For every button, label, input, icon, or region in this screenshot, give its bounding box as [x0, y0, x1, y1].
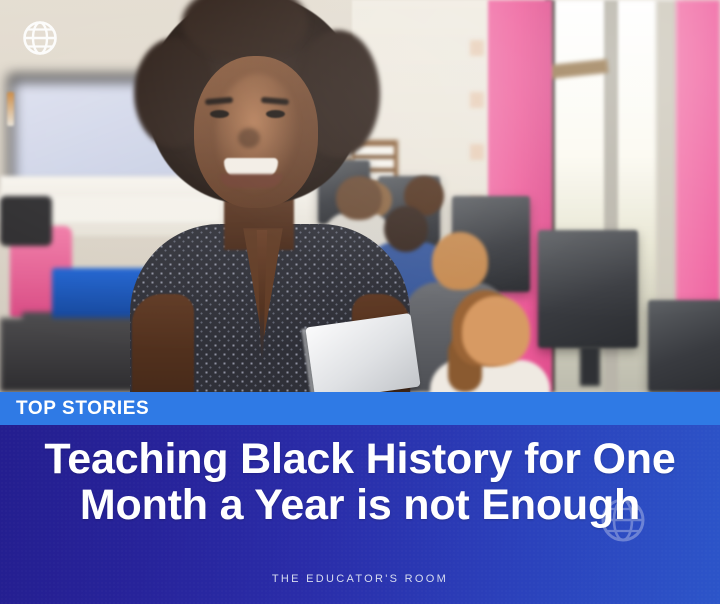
- teacher-eye: [210, 110, 229, 118]
- page-title: Teaching Black History for One Month a Y…: [0, 425, 720, 528]
- computer-monitor: [538, 230, 638, 348]
- article-photo: [0, 0, 720, 392]
- featured-article-card[interactable]: TOP STORIES Teaching Black History for O…: [0, 0, 720, 604]
- teacher-eye: [266, 110, 285, 118]
- student-head: [432, 232, 488, 290]
- teacher-arm-left: [132, 294, 194, 392]
- teacher-lower-lip: [220, 174, 282, 188]
- teacher-nose: [238, 128, 260, 148]
- site-credit: THE EDUCATOR'S ROOM: [0, 573, 720, 585]
- teacher-figure: [120, 0, 420, 392]
- computer-monitor: [648, 300, 720, 392]
- headline-panel: Teaching Black History for One Month a Y…: [0, 425, 720, 604]
- laptop: [305, 313, 420, 392]
- globe-icon: [20, 18, 60, 58]
- student-head: [462, 296, 530, 366]
- monitor-stand: [580, 346, 600, 386]
- top-stories-bar[interactable]: TOP STORIES: [0, 392, 720, 425]
- black-chair: [0, 196, 52, 246]
- top-stories-label: TOP STORIES: [0, 399, 149, 418]
- whiteboard-marker: [7, 92, 14, 126]
